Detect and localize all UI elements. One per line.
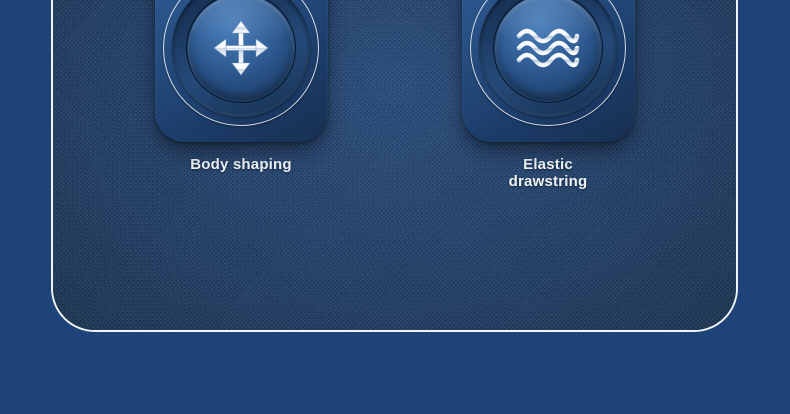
tile-face bbox=[495, 0, 601, 101]
feature-panel: Body shaping bbox=[51, 0, 738, 332]
four-way-move-arrows-icon bbox=[210, 17, 272, 79]
feature-caption-body-shaping: Body shaping bbox=[190, 156, 292, 173]
wavy-lines-icon bbox=[515, 23, 581, 73]
feature-item-elastic-drawstring[interactable]: Elastic drawstring bbox=[462, 2, 635, 262]
feature-list: Body shaping bbox=[53, 2, 736, 262]
tile-face bbox=[188, 0, 294, 101]
page-background: Body shaping bbox=[0, 0, 790, 414]
icon-tile-elastic-drawstring[interactable] bbox=[462, 0, 635, 142]
feature-caption-elastic-drawstring: Elastic drawstring bbox=[509, 156, 588, 191]
feature-item-body-shaping[interactable]: Body shaping bbox=[155, 2, 328, 262]
icon-tile-body-shaping[interactable] bbox=[155, 0, 328, 142]
